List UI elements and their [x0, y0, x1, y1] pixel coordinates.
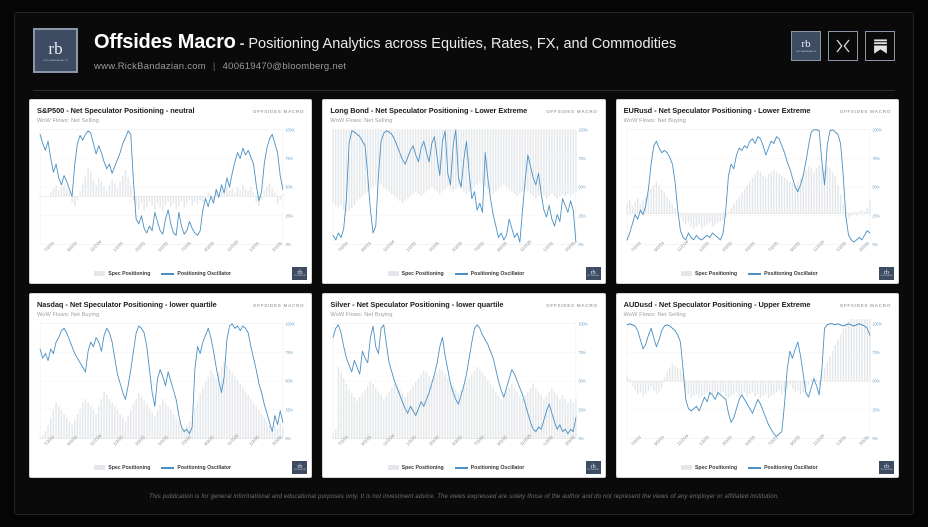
svg-text:0%: 0%	[872, 242, 878, 247]
legend-label-positioning-oscillator: Positioning Oscillator	[177, 271, 231, 277]
legend-label-spec-positioning: Spec Positioning	[108, 271, 150, 277]
chart-card-header: EURusd - Net Speculator Positioning - Lo…	[624, 106, 891, 115]
svg-text:25%: 25%	[285, 213, 293, 218]
svg-text:50%: 50%	[872, 378, 880, 383]
app-root: rb RICK BANDAZIAN JR Offsides Macro - Po…	[0, 0, 928, 527]
legend-label-spec-positioning: Spec Positioning	[402, 271, 444, 277]
website-link[interactable]: www.RickBandazian.com	[94, 61, 206, 72]
legend-bar-swatch-icon	[94, 271, 105, 276]
chart-legend: Spec PositioningPositioning Oscillator	[37, 267, 288, 280]
svg-text:0%: 0%	[872, 436, 878, 441]
legend-bar-swatch-icon	[388, 465, 399, 470]
legend-label-spec-positioning: Spec Positioning	[108, 465, 150, 471]
chart-legend: Spec PositioningPositioning Oscillator	[37, 461, 288, 474]
svg-text:50%: 50%	[579, 184, 587, 189]
rb-logo-subtext: RICK BANDAZIAN JR	[796, 51, 816, 53]
brand-logo-icon: rb RICK BANDAZIAN JR	[33, 28, 78, 73]
svg-text:0%: 0%	[579, 436, 585, 441]
legend-item-positioning-oscillator: Positioning Oscillator	[161, 465, 231, 471]
x-twitter-icon[interactable]	[828, 31, 858, 61]
chart-brand-label: OFFSIDES MACRO	[546, 303, 597, 308]
chart-x-axis: 7/2/249/2/2411/2/241/2/253/2/255/2/257/2…	[41, 248, 282, 267]
chart-legend: Spec PositioningPositioning Oscillator	[330, 461, 581, 474]
chart-legend: Spec PositioningPositioning Oscillator	[624, 461, 875, 474]
badge-subtext: RICK BANDAZIAN	[294, 276, 306, 277]
chart-card-badge-icon: rbRICK BANDAZIAN	[586, 267, 601, 280]
chart-plot-area: 100%75%50%25%0%	[624, 125, 891, 248]
legend-line-swatch-icon	[455, 467, 468, 469]
email-link[interactable]: 400619470@bloomberg.net	[223, 61, 347, 72]
legend-label-positioning-oscillator: Positioning Oscillator	[177, 465, 231, 471]
legend-item-spec-positioning: Spec Positioning	[681, 271, 737, 277]
chart-card-header: S&P500 - Net Speculator Positioning - ne…	[37, 106, 304, 115]
svg-text:75%: 75%	[579, 350, 587, 355]
chart-plot-area: 100%75%50%25%0%	[624, 319, 891, 442]
title-separator: -	[240, 35, 245, 51]
chart-card-header: Nasdaq - Net Speculator Positioning - lo…	[37, 300, 304, 309]
chart-plot-area: 100%75%50%25%0%	[37, 319, 304, 442]
rb-logo-initials: rb	[801, 39, 810, 50]
chart-subtitle: WoW Flows: Net Buying	[37, 312, 304, 318]
badge-subtext: RICK BANDAZIAN	[881, 470, 893, 471]
chart-x-axis: 7/2/249/2/2411/2/241/2/253/2/255/2/257/2…	[628, 442, 869, 461]
legend-item-positioning-oscillator: Positioning Oscillator	[161, 271, 231, 277]
svg-text:25%: 25%	[872, 213, 880, 218]
chart-plot-area: 100%75%50%25%0%	[330, 319, 597, 442]
rb-logo-icon[interactable]: rb RICK BANDAZIAN JR	[791, 31, 821, 61]
legend-bar-swatch-icon	[681, 465, 692, 470]
chart-card-header: AUDusd - Net Speculator Positioning - Up…	[624, 300, 891, 309]
svg-text:50%: 50%	[285, 378, 293, 383]
svg-text:100%: 100%	[285, 127, 295, 132]
chart-title: Silver - Net Speculator Positioning - lo…	[330, 300, 503, 309]
chart-title: S&P500 - Net Speculator Positioning - ne…	[37, 106, 195, 115]
chart-title: EURusd - Net Speculator Positioning - Lo…	[624, 106, 811, 115]
svg-text:25%: 25%	[579, 213, 587, 218]
brand-logo-subtext: RICK BANDAZIAN JR	[43, 59, 67, 62]
svg-text:0%: 0%	[285, 242, 291, 247]
svg-text:0%: 0%	[579, 242, 585, 247]
chart-brand-label: OFFSIDES MACRO	[253, 109, 304, 114]
svg-text:100%: 100%	[579, 127, 589, 132]
chart-title: Long Bond - Net Speculator Positioning -…	[330, 106, 527, 115]
legend-item-positioning-oscillator: Positioning Oscillator	[748, 465, 818, 471]
legend-line-swatch-icon	[748, 467, 761, 469]
chart-subtitle: WoW Flows: Net Buying	[330, 312, 597, 318]
chart-card: EURusd - Net Speculator Positioning - Lo…	[616, 99, 899, 284]
chart-card: AUDusd - Net Speculator Positioning - Up…	[616, 293, 899, 478]
chart-card: Silver - Net Speculator Positioning - lo…	[322, 293, 605, 478]
svg-text:25%: 25%	[579, 407, 587, 412]
legend-item-positioning-oscillator: Positioning Oscillator	[455, 465, 525, 471]
chart-x-axis: 7/2/249/2/2411/2/241/2/253/2/255/2/257/2…	[628, 248, 869, 267]
legend-bar-swatch-icon	[681, 271, 692, 276]
chart-card-badge-icon: rbRICK BANDAZIAN	[292, 267, 307, 280]
legend-item-positioning-oscillator: Positioning Oscillator	[455, 271, 525, 277]
chart-subtitle: WoW Flows: Net Buying	[624, 118, 891, 124]
legend-item-spec-positioning: Spec Positioning	[94, 271, 150, 277]
chart-card-badge-icon: rbRICK BANDAZIAN	[292, 461, 307, 474]
social-links: rb RICK BANDAZIAN JR	[791, 31, 895, 61]
badge-subtext: RICK BANDAZIAN	[294, 470, 306, 471]
brand-logo-initials: rb	[48, 40, 62, 57]
legend-label-spec-positioning: Spec Positioning	[695, 465, 737, 471]
page-footer: This publication is for general informat…	[15, 480, 913, 514]
legend-label-spec-positioning: Spec Positioning	[695, 271, 737, 277]
svg-text:100%: 100%	[285, 321, 295, 326]
title-subtitle: Positioning Analytics across Equities, R…	[248, 36, 676, 52]
chart-brand-label: OFFSIDES MACRO	[546, 109, 597, 114]
svg-text:100%: 100%	[872, 321, 882, 326]
disclaimer-text: This publication is for general informat…	[149, 494, 779, 500]
chart-legend: Spec PositioningPositioning Oscillator	[624, 267, 875, 280]
chart-x-axis: 7/2/249/2/2411/2/241/2/253/2/255/2/257/2…	[334, 442, 575, 461]
legend-label-positioning-oscillator: Positioning Oscillator	[764, 465, 818, 471]
legend-bar-swatch-icon	[94, 465, 105, 470]
legend-bar-swatch-icon	[388, 271, 399, 276]
svg-text:75%: 75%	[285, 156, 293, 161]
chart-card-header: Long Bond - Net Speculator Positioning -…	[330, 106, 597, 115]
legend-line-swatch-icon	[161, 467, 174, 469]
chart-card-badge-icon: rbRICK BANDAZIAN	[879, 461, 894, 474]
header-text-block: Offsides Macro - Positioning Analytics a…	[94, 25, 791, 72]
svg-text:50%: 50%	[285, 184, 293, 189]
legend-item-spec-positioning: Spec Positioning	[388, 271, 444, 277]
legend-item-positioning-oscillator: Positioning Oscillator	[748, 271, 818, 277]
svg-text:75%: 75%	[872, 156, 880, 161]
svg-text:25%: 25%	[872, 407, 880, 412]
chart-brand-label: OFFSIDES MACRO	[840, 109, 891, 114]
svg-text:100%: 100%	[872, 127, 882, 132]
chart-card-badge-icon: rbRICK BANDAZIAN	[879, 267, 894, 280]
chart-title: Nasdaq - Net Speculator Positioning - lo…	[37, 300, 217, 309]
legend-line-swatch-icon	[748, 273, 761, 275]
svg-text:100%: 100%	[579, 321, 589, 326]
badge-subtext: RICK BANDAZIAN	[587, 276, 599, 277]
contact-line: www.RickBandazian.com | 400619470@bloomb…	[94, 61, 791, 72]
legend-label-positioning-oscillator: Positioning Oscillator	[764, 271, 818, 277]
legend-line-swatch-icon	[455, 273, 468, 275]
chart-brand-label: OFFSIDES MACRO	[253, 303, 304, 308]
legend-item-spec-positioning: Spec Positioning	[388, 465, 444, 471]
chart-card: Long Bond - Net Speculator Positioning -…	[322, 99, 605, 284]
chart-card: S&P500 - Net Speculator Positioning - ne…	[29, 99, 312, 284]
chart-plot-area: 100%75%50%25%0%	[37, 125, 304, 248]
chart-subtitle: WoW Flows: Net Selling	[624, 312, 891, 318]
svg-text:75%: 75%	[872, 350, 880, 355]
chart-brand-label: OFFSIDES MACRO	[840, 303, 891, 308]
svg-text:25%: 25%	[285, 407, 293, 412]
legend-item-spec-positioning: Spec Positioning	[681, 465, 737, 471]
chart-legend: Spec PositioningPositioning Oscillator	[330, 267, 581, 280]
chart-plot-area: 100%75%50%25%0%	[330, 125, 597, 248]
chart-card: Nasdaq - Net Speculator Positioning - lo…	[29, 293, 312, 478]
title-main: Offsides Macro	[94, 31, 236, 54]
chart-card-header: Silver - Net Speculator Positioning - lo…	[330, 300, 597, 309]
chart-x-axis: 7/2/249/2/2411/2/241/2/253/2/255/2/257/2…	[334, 248, 575, 267]
chart-subtitle: WoW Flows: Net Selling	[37, 118, 304, 124]
chart-grid: S&P500 - Net Speculator Positioning - ne…	[15, 91, 913, 480]
svg-text:75%: 75%	[285, 350, 293, 355]
legend-label-positioning-oscillator: Positioning Oscillator	[471, 271, 525, 277]
badge-subtext: RICK BANDAZIAN	[881, 276, 893, 277]
page-title: Offsides Macro - Positioning Analytics a…	[94, 31, 791, 54]
svg-text:50%: 50%	[872, 184, 880, 189]
svg-text:50%: 50%	[579, 378, 587, 383]
svg-text:75%: 75%	[579, 156, 587, 161]
chart-subtitle: WoW Flows: Net Selling	[330, 118, 597, 124]
contact-separator: |	[213, 61, 216, 72]
bookmark-icon[interactable]	[865, 31, 895, 61]
legend-label-spec-positioning: Spec Positioning	[402, 465, 444, 471]
chart-title: AUDusd - Net Speculator Positioning - Up…	[624, 300, 811, 309]
legend-item-spec-positioning: Spec Positioning	[94, 465, 150, 471]
legend-label-positioning-oscillator: Positioning Oscillator	[471, 465, 525, 471]
legend-line-swatch-icon	[161, 273, 174, 275]
chart-card-badge-icon: rbRICK BANDAZIAN	[586, 461, 601, 474]
badge-subtext: RICK BANDAZIAN	[587, 470, 599, 471]
page-header: rb RICK BANDAZIAN JR Offsides Macro - Po…	[15, 13, 913, 91]
svg-text:0%: 0%	[285, 436, 291, 441]
report-frame: rb RICK BANDAZIAN JR Offsides Macro - Po…	[14, 12, 914, 515]
chart-x-axis: 7/2/249/2/2411/2/241/2/253/2/255/2/257/2…	[41, 442, 282, 461]
